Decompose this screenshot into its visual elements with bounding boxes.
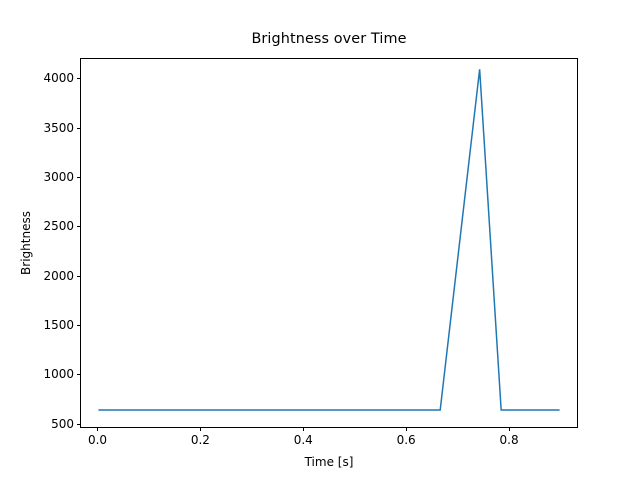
x-tick-mark bbox=[509, 428, 510, 432]
y-tick-mark bbox=[77, 374, 81, 375]
chart-title: Brightness over Time bbox=[80, 30, 578, 48]
y-tick-label: 1500 bbox=[43, 319, 74, 331]
y-tick-mark bbox=[77, 78, 81, 79]
x-tick-label: 0.6 bbox=[376, 434, 436, 446]
x-tick-label: 0.4 bbox=[273, 434, 333, 446]
x-tick-mark bbox=[97, 428, 98, 432]
y-tick-mark bbox=[77, 424, 81, 425]
y-tick-mark bbox=[77, 276, 81, 277]
y-tick-label: 2000 bbox=[43, 270, 74, 282]
y-tick-mark bbox=[77, 226, 81, 227]
x-tick-mark bbox=[303, 428, 304, 432]
x-axis-label: Time [s] bbox=[80, 455, 578, 469]
y-tick-label: 3000 bbox=[43, 171, 74, 183]
y-tick-label: 1000 bbox=[43, 368, 74, 380]
x-tick-label: 0.8 bbox=[479, 434, 539, 446]
line-series-svg bbox=[81, 59, 577, 427]
brightness-line bbox=[98, 69, 559, 410]
y-tick-label: 500 bbox=[51, 418, 74, 430]
y-tick-mark bbox=[77, 128, 81, 129]
matplotlib-figure: Brightness over Time 5001000150020002500… bbox=[0, 0, 640, 480]
y-tick-label: 4000 bbox=[43, 72, 74, 84]
y-tick-mark bbox=[77, 325, 81, 326]
plot-area bbox=[80, 58, 578, 428]
x-tick-label: 0.2 bbox=[170, 434, 230, 446]
y-tick-label: 2500 bbox=[43, 220, 74, 232]
y-axis-label: Brightness bbox=[18, 58, 34, 428]
y-tick-mark bbox=[77, 177, 81, 178]
x-tick-mark bbox=[406, 428, 407, 432]
x-tick-mark bbox=[200, 428, 201, 432]
y-tick-label: 3500 bbox=[43, 122, 74, 134]
x-tick-label: 0.0 bbox=[67, 434, 127, 446]
